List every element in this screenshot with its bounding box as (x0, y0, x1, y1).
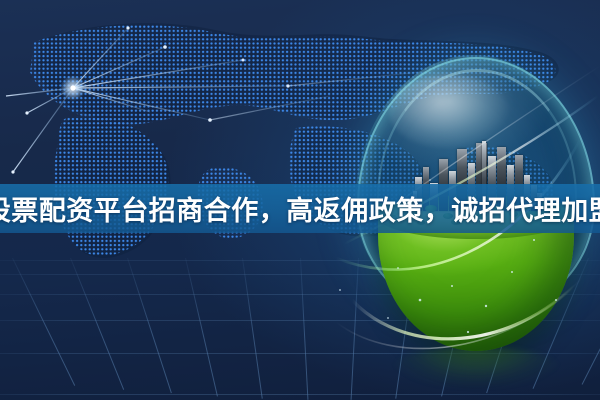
dome-highlight (389, 75, 509, 149)
hemisphere-reflection (393, 347, 559, 387)
page-title: 股票配资平台招商合作，高返佣政策，诚招代理加盟 (0, 186, 600, 231)
banner-canvas: 股票配资平台招商合作，高返佣政策，诚招代理加盟 (0, 0, 600, 400)
map-hub (60, 75, 86, 101)
